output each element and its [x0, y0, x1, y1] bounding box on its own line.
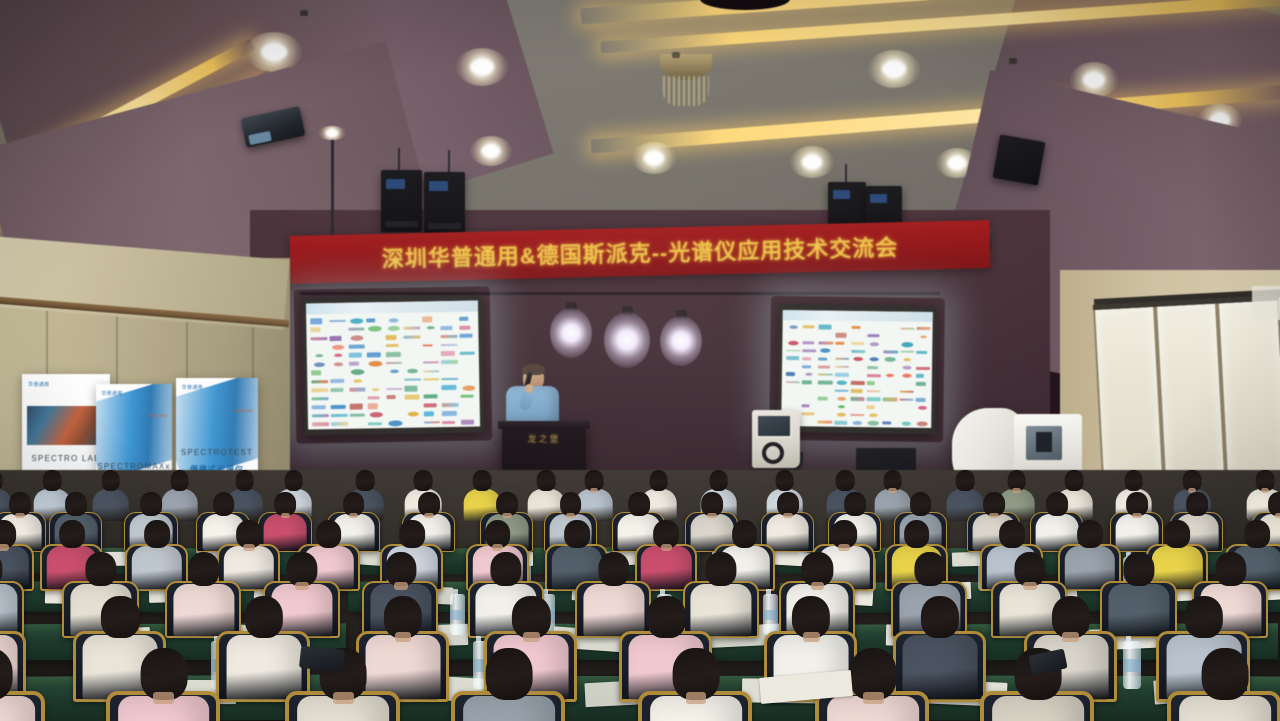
speaker-hanger [398, 148, 400, 172]
slide-logo-chip [916, 327, 930, 330]
slide-logo-chip [408, 412, 419, 416]
slide-logo-chip [350, 318, 363, 323]
slide-logo-chip [786, 395, 800, 401]
slide-logo-chip [884, 333, 898, 339]
slide-logo-chip [348, 344, 365, 348]
slide-logo-chip [835, 342, 844, 345]
slide-logo-chip [367, 369, 384, 376]
audience-member-torso [992, 696, 1084, 721]
spotlight-glow [660, 316, 702, 366]
audience-member-neck [1023, 582, 1037, 590]
slide-logo-chip [802, 365, 811, 368]
audience-member-head [598, 552, 629, 586]
slide-logo-chip [916, 357, 930, 363]
slide-logo-chip [851, 326, 860, 329]
slide-logo-chip [802, 413, 815, 416]
audience-member-head [844, 492, 866, 516]
audience-member-head [910, 492, 932, 516]
spotlight-glow [550, 308, 592, 358]
slide-logo-chip [405, 386, 418, 392]
slide-logo-chip [802, 381, 811, 385]
slide-logo-chip [821, 349, 831, 353]
slide-logo-chip [916, 367, 930, 370]
rollup-brand-logo: 华普通用 [101, 390, 122, 397]
audience-member-head [316, 520, 342, 548]
slide-logo-chip [331, 422, 348, 426]
slide-logo-chip [422, 317, 433, 323]
right-projection-screen [777, 304, 937, 434]
audience-member-head [0, 470, 3, 491]
slide-logo-chip [786, 387, 800, 393]
chandelier-crystals [663, 76, 709, 106]
slide-logo-chip [836, 381, 847, 386]
instrument-cable [778, 452, 803, 471]
slide-logo-grid [784, 323, 931, 428]
left-projection-screen [302, 294, 484, 435]
slide-logo-chip [424, 421, 441, 424]
podium-name-plate: 龙之堡 [512, 432, 576, 446]
slide-logo-chip [461, 419, 474, 424]
audience-member-neck [424, 513, 434, 519]
slide-logo-chip [903, 358, 911, 361]
ceiling-downlight [632, 142, 676, 174]
spotlight-glow [604, 312, 650, 368]
slide-logo-chip [330, 388, 343, 392]
slide-logo-chip [424, 411, 434, 417]
wall-mounted-speaker [993, 134, 1046, 185]
slide-logo-chip [350, 370, 363, 375]
slide-logo-chip [460, 351, 475, 355]
audience-member-head [706, 552, 737, 586]
audience-member [117, 648, 211, 721]
slide-logo-chip [852, 421, 862, 425]
slide-logo-chip [441, 351, 455, 357]
audience-member-torso [463, 696, 555, 721]
slide-logo-chip [818, 373, 832, 376]
slide-logo-chip [899, 391, 913, 393]
slide-logo-chip [312, 380, 329, 383]
audience-member-head [1123, 552, 1154, 586]
audience-member-head [836, 470, 855, 491]
audience-member-neck [1062, 632, 1079, 642]
slide-logo-chip [311, 344, 328, 351]
slide-logo-chip [403, 316, 420, 323]
slide-logo-chip [834, 420, 847, 424]
audience-member-head [709, 470, 728, 491]
audience-member-neck [661, 544, 672, 551]
slide-logo-chip [331, 395, 348, 402]
slide-logo-chip [786, 372, 796, 376]
slide-logo-chip [851, 381, 865, 386]
left-screen-surface [306, 301, 480, 430]
slide-logo-chip [311, 319, 323, 325]
slide-logo-chip [918, 406, 927, 410]
audience-member-neck [838, 544, 849, 551]
audience-member-neck [394, 582, 408, 590]
event-banner-text: 深圳华普通用&德国斯派克--光谱仪应用技术交流会 [381, 230, 898, 274]
slide-logo-chip [368, 404, 378, 410]
slide-logo-chip [835, 373, 849, 378]
slide-logo-chip [405, 419, 422, 426]
hanging-light-pole [331, 130, 334, 235]
audience-member-head [537, 470, 556, 491]
slide-logo-chip [901, 342, 913, 347]
slide-logo-chip [916, 351, 927, 354]
ceiling-downlight [470, 136, 512, 166]
slide-logo-chip [885, 357, 896, 362]
slide-logo-chip [423, 361, 440, 364]
conference-hall-photo: 深圳华普通用&德国斯派克--光谱仪应用技术交流会 [0, 0, 1280, 721]
slide-logo-chip [329, 320, 346, 323]
slide-logo-chip [902, 366, 911, 370]
audience-member-head [1065, 470, 1084, 491]
audience-member-head [1186, 492, 1208, 516]
audience-member-head [775, 470, 794, 491]
slide-logo-chip [883, 404, 897, 410]
audience-member-head [235, 470, 254, 491]
slide-logo-chip [334, 354, 342, 357]
slide-logo-chip [838, 405, 845, 408]
slide-logo-chip [867, 374, 881, 377]
slide-logo-chip [404, 327, 421, 331]
slide-logo-chip [405, 379, 422, 382]
slide-logo-chip [386, 377, 403, 384]
slide-logo-chip [368, 326, 381, 331]
slide-logo-chip [311, 337, 328, 341]
slide-logo-chip [835, 333, 847, 337]
slide-logo-chip [442, 421, 455, 424]
window-blind [1219, 297, 1280, 496]
slide-logo-chip [461, 401, 478, 408]
slide-logo-chip [441, 360, 458, 364]
speaker-hanger [448, 150, 450, 174]
slide-logo-chip [837, 397, 846, 401]
slide-logo-chip [819, 357, 827, 360]
slide-logo-chip [350, 335, 363, 340]
slide-logo-chip [385, 344, 398, 347]
slide-logo-chip [850, 404, 864, 410]
slide-logo-chip [883, 412, 897, 418]
slide-logo-chip [311, 328, 321, 333]
slide-logo-chip [423, 370, 440, 372]
slide-logo-chip [916, 374, 925, 379]
audience-member-torso [1108, 584, 1169, 637]
audience-member-head [65, 492, 87, 516]
slide-logo-chip [867, 349, 881, 355]
rollup-product-en: SPECTROTEST [176, 448, 258, 457]
pa-speaker [381, 170, 422, 232]
speaker-logo-badge [870, 194, 887, 203]
slide-logo-chip [786, 381, 800, 384]
audience-member-head [188, 552, 219, 586]
slide-logo-chip [350, 420, 367, 427]
slide-logo-chip [883, 422, 892, 425]
slide-logo-chip [851, 341, 864, 345]
audience-member-head [0, 648, 13, 700]
slide-logo-chip [386, 362, 403, 365]
smoke-detector-icon [1009, 58, 1017, 64]
audience-member-head [647, 596, 685, 638]
speaker-grille [428, 223, 461, 229]
audience-member-head [144, 520, 170, 548]
slide-logo-chip [460, 341, 477, 348]
audience-member-head [473, 470, 492, 491]
slide-logo-chip [803, 332, 817, 338]
audience-member [226, 596, 302, 694]
slide-logo-chip [818, 420, 832, 424]
slide-logo-chip [330, 369, 347, 376]
smoke-detector-icon [300, 10, 308, 16]
water-bottle [1123, 641, 1140, 688]
slide-logo-chip [369, 361, 382, 367]
slide-logo-chip [404, 342, 421, 349]
instrument-monitor-screen [756, 414, 792, 438]
slide-logo-chip [460, 394, 474, 397]
audience-member-head [649, 470, 668, 491]
slide-logo-chip [899, 412, 913, 418]
slide-logo-chip [312, 405, 325, 409]
speaker-logo-badge [429, 181, 448, 191]
slide-logo-chip [802, 387, 816, 393]
presenter-hair [522, 364, 545, 375]
slide-logo-chip [884, 341, 898, 347]
slide-logo-chip [902, 374, 912, 378]
slide-logo-chip [900, 327, 914, 329]
slide-logo-chip [802, 404, 810, 407]
slide-logo-chip [329, 326, 346, 333]
audience-member-head [0, 552, 2, 586]
slide-logo-chip [385, 352, 400, 357]
slide-logo-chip [803, 341, 815, 345]
rollup-secondary-logo: SPECTRO [148, 413, 167, 418]
slide-logo-chip [836, 413, 845, 417]
slide-logo-chip [788, 340, 799, 345]
slide-logo-chip [405, 394, 420, 400]
slide-logo-chip [899, 381, 913, 387]
slide-logo-chip [348, 327, 365, 331]
slide-logo-chip [834, 389, 848, 392]
slide-logo-chip [461, 410, 478, 417]
slide-logo-chip [441, 335, 458, 338]
audience-member-head [564, 520, 590, 548]
slide-logo-chip [916, 421, 927, 426]
audience-member-neck [281, 513, 291, 519]
slide-logo-chip [367, 352, 381, 358]
slide-logo-chip [835, 366, 849, 369]
slide-logo-chip [819, 342, 833, 344]
slide-logo-chip [900, 351, 914, 353]
audience-member-head [1165, 520, 1191, 548]
slide-logo-chip [806, 373, 813, 376]
smartphone [299, 646, 345, 672]
slide-logo-chip [883, 398, 897, 402]
slide-logo-chip [385, 335, 396, 340]
slide-logo-chip [388, 420, 402, 426]
slide-logo-chip [404, 359, 421, 366]
slide-logo-chip [818, 381, 832, 385]
ceiling-downlight [868, 50, 920, 88]
audience-member-head [356, 470, 375, 491]
slide-logo-chip [368, 396, 380, 399]
slide-logo-chip [349, 414, 364, 417]
slide-logo-chip [329, 336, 341, 341]
slide-logo-chip [850, 397, 864, 401]
audience-member-head [999, 520, 1025, 548]
slide-logo-chip [404, 351, 421, 358]
slide-logo-chip [427, 326, 435, 329]
slide-logo-chip [312, 397, 329, 401]
audience-member-neck [811, 582, 825, 590]
slide-logo-chip [330, 379, 345, 383]
audience-member [766, 492, 810, 548]
slide-logo-chip [786, 356, 799, 360]
audience-member-head [43, 470, 62, 491]
slide-logo-chip [920, 335, 926, 338]
slide-logo-chip [423, 350, 440, 357]
audience-member-head [956, 470, 975, 491]
audience-member-head [85, 552, 116, 586]
slide-logo-chip [441, 326, 453, 330]
slide-logo-chip [459, 325, 470, 329]
slide-logo-chip [802, 349, 816, 352]
slide-logo-chip [870, 342, 880, 346]
slide-header-strip [306, 301, 478, 315]
slide-logo-chip [312, 388, 329, 392]
slide-logo-chip [915, 389, 929, 395]
slide-logo-chip [367, 334, 384, 341]
audience-member-head [1046, 492, 1068, 516]
rollup-secondary-logo: SPECTRO [234, 408, 253, 413]
slide-logo-chip [422, 344, 432, 347]
audience-member-neck [1275, 513, 1280, 519]
audience-member-neck [502, 513, 512, 519]
slide-logo-chip [899, 404, 913, 410]
speaker-grille [385, 221, 418, 227]
audience-member-neck [707, 513, 717, 519]
audience-member-neck [333, 692, 354, 704]
slide-logo-chip [789, 325, 797, 329]
audience-member-torso [0, 696, 35, 721]
slide-logo-chip [802, 395, 816, 401]
slide-logo-chip [459, 334, 472, 338]
slide-logo-chip [404, 335, 421, 339]
audience-member-neck [243, 544, 254, 551]
slide-logo-chip [316, 354, 324, 357]
audience-member [0, 648, 36, 721]
slide-logo-chip [916, 382, 927, 386]
slide-logo-chip [334, 362, 343, 366]
slide-logo-chip [424, 403, 438, 407]
water-bottle [450, 594, 465, 635]
audience-member-torso [226, 635, 301, 700]
presenter [504, 366, 560, 428]
ceiling-downlight [456, 48, 508, 86]
slide-logo-chip [786, 332, 800, 338]
slide-logo-chip [407, 369, 418, 373]
slide-logo-chip [331, 414, 348, 417]
slide-logo-chip [349, 388, 366, 392]
slide-logo-chip [883, 365, 897, 371]
audience-member-head [1244, 520, 1270, 548]
audience-member-torso [766, 514, 809, 551]
slide-logo-chip [835, 348, 849, 354]
slide-logo-chip [368, 422, 381, 425]
slide-logo-chip [786, 363, 800, 369]
slide-logo-chip [851, 350, 865, 353]
audience-member-head [914, 552, 945, 586]
air-vent [1252, 286, 1280, 320]
slide-logo-chip [422, 333, 439, 340]
slide-logo-chip [802, 357, 811, 360]
slide-logo-chip [851, 333, 865, 339]
audience-member-head [170, 470, 189, 491]
slide-logo-chip [442, 411, 457, 417]
audience-member-neck [989, 513, 999, 519]
slide-logo-chip [442, 393, 459, 400]
audience-member [1178, 648, 1272, 721]
slide-logo-chip [367, 343, 384, 350]
slide-logo-chip [386, 388, 403, 391]
audience-member-head [101, 470, 120, 491]
audience-member-head [732, 520, 758, 548]
slide-logo-chip [851, 372, 865, 378]
audience-member-neck [395, 632, 412, 642]
audience-member-neck [566, 513, 576, 519]
slide-logo-chip [868, 325, 882, 331]
presenter-hand [525, 384, 533, 393]
slide-logo-chip [886, 374, 894, 377]
rollup-photo [27, 406, 104, 445]
right-screen-surface [781, 310, 933, 428]
audience-member-neck [783, 513, 793, 519]
slide-logo-chip [853, 357, 863, 361]
audience-member-head [245, 596, 283, 638]
audience-member-neck [888, 488, 896, 493]
slide-logo-chip [442, 403, 459, 407]
slide-logo-chip [818, 365, 829, 368]
speaker-logo-badge [833, 190, 850, 199]
slide-header-strip [783, 310, 933, 323]
audience-member-neck [803, 632, 820, 642]
slide-logo-chip [370, 412, 383, 417]
audience-member-head [1185, 596, 1223, 638]
slide-logo-chip [868, 420, 880, 425]
podium-top [498, 421, 590, 429]
audience-member-neck [295, 582, 309, 590]
audience-member-head [284, 470, 303, 491]
audience-member-neck [153, 692, 174, 704]
slide-logo-chip [462, 385, 474, 390]
slide-logo-chip [786, 350, 800, 352]
audience-member-neck [863, 692, 884, 704]
slide-logo-chip [818, 403, 832, 409]
slide-logo-chip [386, 395, 395, 399]
slide-logo-chip [818, 411, 832, 417]
slide-logo-chip [459, 317, 468, 321]
audience-member-head [486, 648, 533, 700]
slide-logo-chip [388, 318, 398, 322]
audience-member [462, 648, 556, 721]
audience-member-head [1215, 552, 1246, 586]
audience-member-head [59, 520, 85, 548]
slide-logo-chip [915, 413, 929, 419]
slide-logo-chip [331, 404, 346, 409]
audience-member-head [1124, 470, 1143, 491]
audience-member-head [1201, 648, 1248, 700]
slide-logo-chip [818, 396, 827, 401]
slide-logo-chip [868, 334, 880, 337]
slide-logo-chip [441, 367, 458, 374]
